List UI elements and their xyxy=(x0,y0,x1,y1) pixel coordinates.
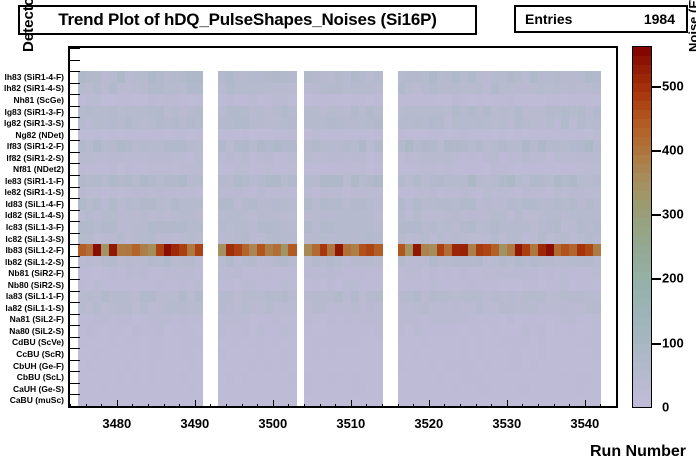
heatmap-cell xyxy=(374,291,382,303)
heatmap-cell xyxy=(195,314,203,326)
heatmap-cell xyxy=(195,140,203,152)
heatmap-cell xyxy=(593,152,601,164)
x-axis-label: 3480 xyxy=(102,416,131,431)
y-axis-label: lf83 (SiR1-2-F) xyxy=(7,141,64,151)
x-axis-tick xyxy=(117,400,118,408)
colorbar-tick xyxy=(652,278,661,280)
y-axis-label: Na81 (SiL2-F) xyxy=(10,314,64,324)
x-axis-tick xyxy=(195,400,196,408)
heatmap-cell xyxy=(195,94,203,106)
heatmap-cell xyxy=(593,83,601,95)
y-axis-label: lf82 (SiR1-2-S) xyxy=(6,153,64,163)
x-axis-labels: 3480349035003510352035303540 xyxy=(68,410,618,428)
x-axis-tick xyxy=(335,404,336,408)
x-axis-tick xyxy=(538,404,539,408)
heatmap-cell xyxy=(593,106,601,118)
y-axis-tick xyxy=(70,279,80,280)
heatmap-cell xyxy=(288,187,296,199)
heatmap-cell xyxy=(593,325,601,337)
y-axis-label: lb83 (SiL1-2-F) xyxy=(5,245,64,255)
x-axis-tick xyxy=(382,404,383,408)
heatmap-cell xyxy=(195,129,203,141)
y-axis-label: la83 (SiL1-1-F) xyxy=(6,291,64,301)
x-axis-tick xyxy=(86,404,87,408)
y-axis-label: lc82 (SiL1-3-S) xyxy=(5,234,64,244)
heatmap-cell xyxy=(374,175,382,187)
heatmap-cell xyxy=(288,279,296,291)
colorbar-tick-label: 0 xyxy=(662,400,669,415)
heatmap-cell xyxy=(374,83,382,95)
x-axis-tick xyxy=(210,404,211,408)
heatmap-cell xyxy=(374,267,382,279)
heatmap-cell xyxy=(288,302,296,314)
heatmap-cell xyxy=(374,187,382,199)
heatmap-cell xyxy=(593,233,601,245)
heatmap-cell xyxy=(374,348,382,360)
heatmap-cell xyxy=(195,106,203,118)
heatmap-cell xyxy=(374,314,382,326)
heatmap-cell xyxy=(374,360,382,372)
heatmap-cell xyxy=(195,244,203,256)
heatmap-cell xyxy=(195,233,203,245)
y-axis-label: CaBU (muSc) xyxy=(10,395,64,405)
heatmap-cell xyxy=(374,140,382,152)
colorbar-tick-label: 100 xyxy=(662,335,684,350)
x-axis-tick xyxy=(242,404,243,408)
y-axis-label: lg83 (SiR1-3-F) xyxy=(4,107,64,117)
x-axis-label: 3510 xyxy=(336,416,365,431)
heatmap-cell xyxy=(195,71,203,83)
y-axis-tick xyxy=(70,383,80,384)
y-axis-tick xyxy=(70,175,80,176)
y-axis-tick xyxy=(70,210,80,211)
x-axis-tick xyxy=(522,404,523,408)
heatmap-cell xyxy=(195,360,203,372)
y-axis-label: lh82 (SiR1-4-S) xyxy=(4,83,64,93)
colorbar-labels: 0100200300400500 xyxy=(662,46,696,418)
heatmap-cell xyxy=(288,140,296,152)
y-axis-label: CdBU (ScVe) xyxy=(12,337,64,347)
y-axis-tick xyxy=(70,152,80,153)
colorbar-tick xyxy=(652,214,661,216)
heatmap-cell xyxy=(593,129,601,141)
heatmap-cell xyxy=(593,163,601,175)
x-axis-label: 3520 xyxy=(414,416,443,431)
heatmap-cell xyxy=(195,337,203,349)
x-axis-tick xyxy=(257,404,258,408)
heatmap-cell xyxy=(374,221,382,233)
heatmap-cell xyxy=(593,348,601,360)
x-axis-tick xyxy=(507,400,508,408)
y-axis-labels: lh83 (SiR1-4-F)lh82 (SiR1-4-S)Nh81 (ScGe… xyxy=(0,46,66,408)
heatmap-cell xyxy=(288,94,296,106)
x-axis-tick xyxy=(444,404,445,408)
heatmap-cell xyxy=(195,371,203,383)
y-axis-tick xyxy=(70,48,80,49)
y-axis-tick xyxy=(70,406,80,407)
heatmap-cell xyxy=(374,117,382,129)
y-axis-label: Nb80 (SiR2-S) xyxy=(8,280,64,290)
y-axis-label: CcBU (ScR) xyxy=(16,349,64,359)
x-axis-tick xyxy=(132,404,133,408)
heatmap-cell xyxy=(593,360,601,372)
x-axis-tick xyxy=(226,404,227,408)
y-axis-label: le83 (SiR1-1-F) xyxy=(5,176,64,186)
heatmap-cell xyxy=(288,198,296,210)
heatmap-cell xyxy=(374,325,382,337)
heatmap-cell xyxy=(288,71,296,83)
x-axis-title: Run Number xyxy=(590,443,686,461)
heatmap-cell xyxy=(195,152,203,164)
x-axis-label: 3530 xyxy=(492,416,521,431)
x-axis-tick xyxy=(585,400,586,408)
y-axis-tick xyxy=(70,256,80,257)
x-axis-tick xyxy=(554,404,555,408)
x-axis-tick xyxy=(413,404,414,408)
heatmap-cell xyxy=(593,187,601,199)
plot-title-box: Trend Plot of hDQ_PulseShapes_Noises (Si… xyxy=(18,5,477,35)
entries-label: Entries xyxy=(525,11,572,27)
y-axis-tick xyxy=(70,360,80,361)
x-axis-tick xyxy=(491,404,492,408)
y-axis-tick xyxy=(70,187,80,188)
heatmap-cell xyxy=(195,175,203,187)
heatmap-cells xyxy=(70,48,616,406)
y-axis-tick xyxy=(70,348,80,349)
heatmap-cell xyxy=(195,267,203,279)
heatmap-cell xyxy=(374,371,382,383)
heatmap-cell xyxy=(374,244,382,256)
heatmap-cell xyxy=(195,83,203,95)
x-axis-tick xyxy=(70,404,71,408)
heatmap-cell xyxy=(374,256,382,268)
heatmap-cell xyxy=(374,152,382,164)
heatmap-cell xyxy=(288,106,296,118)
heatmap-cell xyxy=(374,198,382,210)
y-axis-label: Nb81 (SiR2-F) xyxy=(8,268,64,278)
y-axis-label: CbUH (Ge-F) xyxy=(13,361,64,371)
plot-frame xyxy=(68,46,618,408)
x-axis-tick xyxy=(476,404,477,408)
heatmap-cell xyxy=(288,325,296,337)
y-axis-tick xyxy=(70,71,80,72)
heatmap-cell xyxy=(593,71,601,83)
heatmap-cell xyxy=(288,152,296,164)
heatmap-cell xyxy=(288,348,296,360)
y-axis-label: CaUH (Ge-S) xyxy=(13,384,64,394)
y-axis-label: Nh81 (ScGe) xyxy=(13,95,64,105)
colorbar-tick xyxy=(652,86,661,88)
heatmap-cell xyxy=(593,117,601,129)
heatmap-cell xyxy=(374,106,382,118)
y-axis-label: ld82 (SiL1-4-S) xyxy=(5,210,64,220)
y-axis-tick xyxy=(70,221,80,222)
heatmap-cell xyxy=(374,279,382,291)
heatmap-cell xyxy=(593,210,601,222)
heatmap-cell xyxy=(374,210,382,222)
y-axis-tick xyxy=(70,371,80,372)
y-axis-tick xyxy=(70,140,80,141)
heatmap-cell xyxy=(593,256,601,268)
x-axis-tick xyxy=(569,404,570,408)
x-axis-tick xyxy=(273,400,274,408)
heatmap-cell xyxy=(195,325,203,337)
y-axis-label: lb82 (SiL1-2-S) xyxy=(5,257,64,267)
heatmap-cell xyxy=(374,129,382,141)
x-axis-tick xyxy=(179,404,180,408)
y-axis-label: la82 (SiL1-1-S) xyxy=(5,303,64,313)
y-axis-tick xyxy=(70,244,80,245)
y-axis-tick xyxy=(70,314,80,315)
heatmap-cell xyxy=(288,83,296,95)
heatmap-cell xyxy=(374,302,382,314)
y-axis-tick xyxy=(70,163,80,164)
heatmap-cell xyxy=(593,140,601,152)
y-axis-label: CbBU (ScL) xyxy=(17,372,64,382)
heatmap-cell xyxy=(288,337,296,349)
y-axis-tick xyxy=(70,233,80,234)
heatmap-cell xyxy=(593,314,601,326)
y-axis-label: lg82 (SiR1-3-S) xyxy=(4,118,64,128)
y-axis-tick xyxy=(70,129,80,130)
heatmap-cell xyxy=(593,302,601,314)
trend-plot-canvas: Trend Plot of hDQ_PulseShapes_Noises (Si… xyxy=(0,0,696,472)
heatmap-cell xyxy=(288,371,296,383)
heatmap-cell xyxy=(195,348,203,360)
heatmap-cell xyxy=(195,163,203,175)
y-axis-label: Na80 (SiL2-S) xyxy=(9,326,64,336)
y-axis-label: lh83 (SiR1-4-F) xyxy=(4,72,64,82)
heatmap-cell xyxy=(374,94,382,106)
entries-value: 1984 xyxy=(644,11,675,27)
heatmap-cell xyxy=(195,198,203,210)
heatmap-cell xyxy=(374,71,382,83)
heatmap-cell xyxy=(593,175,601,187)
x-axis-label: 3490 xyxy=(180,416,209,431)
y-axis-tick xyxy=(70,267,80,268)
y-axis-label: le82 (SiR1-1-S) xyxy=(4,187,64,197)
y-axis-label: Ng82 (NDet) xyxy=(15,130,64,140)
x-axis-tick xyxy=(148,404,149,408)
y-axis-label: ld83 (SiL1-4-F) xyxy=(5,199,64,209)
colorbar-tick-label: 400 xyxy=(662,142,684,157)
heatmap-cell xyxy=(195,291,203,303)
y-axis-tick xyxy=(70,291,80,292)
entries-stats-box: Entries 1984 xyxy=(514,5,688,33)
heatmap-cell xyxy=(593,337,601,349)
y-axis-tick xyxy=(70,60,80,61)
heatmap-cell xyxy=(288,267,296,279)
y-axis-tick xyxy=(70,325,80,326)
y-axis-tick xyxy=(70,337,80,338)
heatmap-cell xyxy=(374,337,382,349)
heatmap-cell xyxy=(288,163,296,175)
heatmap-cell xyxy=(195,117,203,129)
heatmap-cell xyxy=(593,221,601,233)
heatmap-cell xyxy=(288,314,296,326)
heatmap-cell xyxy=(195,383,203,395)
x-axis-label: 3540 xyxy=(570,416,599,431)
heatmap-cell xyxy=(195,256,203,268)
heatmap-cell xyxy=(195,221,203,233)
y-axis-tick xyxy=(70,83,80,84)
heatmap-cell xyxy=(288,210,296,222)
x-axis-tick xyxy=(616,404,617,408)
y-axis-tick xyxy=(70,94,80,95)
colorbar-tick xyxy=(652,150,661,152)
x-axis-tick xyxy=(460,404,461,408)
heatmap-cell xyxy=(288,383,296,395)
heatmap-cell xyxy=(374,383,382,395)
y-axis-label: lc83 (SiL1-3-F) xyxy=(6,222,64,232)
x-axis-tick xyxy=(101,404,102,408)
y-axis-tick xyxy=(70,106,80,107)
heatmap-cell xyxy=(593,291,601,303)
heatmap-cell xyxy=(374,233,382,245)
heatmap-cell xyxy=(288,256,296,268)
heatmap-cell xyxy=(195,210,203,222)
heatmap-cell xyxy=(374,163,382,175)
x-axis-tick xyxy=(429,400,430,408)
x-axis-tick xyxy=(164,404,165,408)
heatmap-cell xyxy=(593,244,601,256)
colorbar xyxy=(632,46,652,408)
heatmap-cell xyxy=(288,291,296,303)
x-axis-tick xyxy=(366,404,367,408)
heatmap-cell xyxy=(288,244,296,256)
heatmap-cell xyxy=(195,302,203,314)
heatmap-cell xyxy=(593,279,601,291)
heatmap-cell xyxy=(288,129,296,141)
heatmap-cell xyxy=(593,94,601,106)
y-axis-title: Detector xyxy=(20,0,37,52)
page-title: Trend Plot of hDQ_PulseShapes_Noises (Si… xyxy=(58,10,437,30)
y-axis-tick xyxy=(70,394,80,395)
colorbar-tick-label: 200 xyxy=(662,271,684,286)
heatmap-cell xyxy=(195,394,203,406)
heatmap-cell xyxy=(195,187,203,199)
heatmap-cell xyxy=(288,394,296,406)
x-axis-tick xyxy=(288,404,289,408)
y-axis-tick xyxy=(70,198,80,199)
y-axis-tick xyxy=(70,117,80,118)
heatmap-cell xyxy=(288,221,296,233)
heatmap-cell xyxy=(288,117,296,129)
heatmap-cell xyxy=(593,371,601,383)
colorbar-ticks xyxy=(652,46,662,408)
x-axis-tick xyxy=(398,404,399,408)
heatmap-cell xyxy=(288,175,296,187)
x-axis-label: 3500 xyxy=(258,416,287,431)
heatmap-cell xyxy=(593,383,601,395)
heatmap-cell xyxy=(195,279,203,291)
colorbar-tick xyxy=(652,343,661,345)
y-axis-label: Nf81 (NDet2) xyxy=(13,164,64,174)
heatmap-cell xyxy=(288,233,296,245)
colorbar-tick-label: 500 xyxy=(662,78,684,93)
colorbar-segment xyxy=(633,398,651,408)
x-axis-tick xyxy=(304,404,305,408)
heatmap-cell xyxy=(593,267,601,279)
heatmap-cell xyxy=(288,360,296,372)
x-axis-tick xyxy=(320,404,321,408)
x-axis-tick xyxy=(600,404,601,408)
heatmap-cell xyxy=(593,198,601,210)
x-axis-tick xyxy=(351,400,352,408)
y-axis-tick xyxy=(70,302,80,303)
colorbar-tick-label: 300 xyxy=(662,207,684,222)
colorbar-title: Noise (FWHM) [ADC] xyxy=(686,0,696,52)
